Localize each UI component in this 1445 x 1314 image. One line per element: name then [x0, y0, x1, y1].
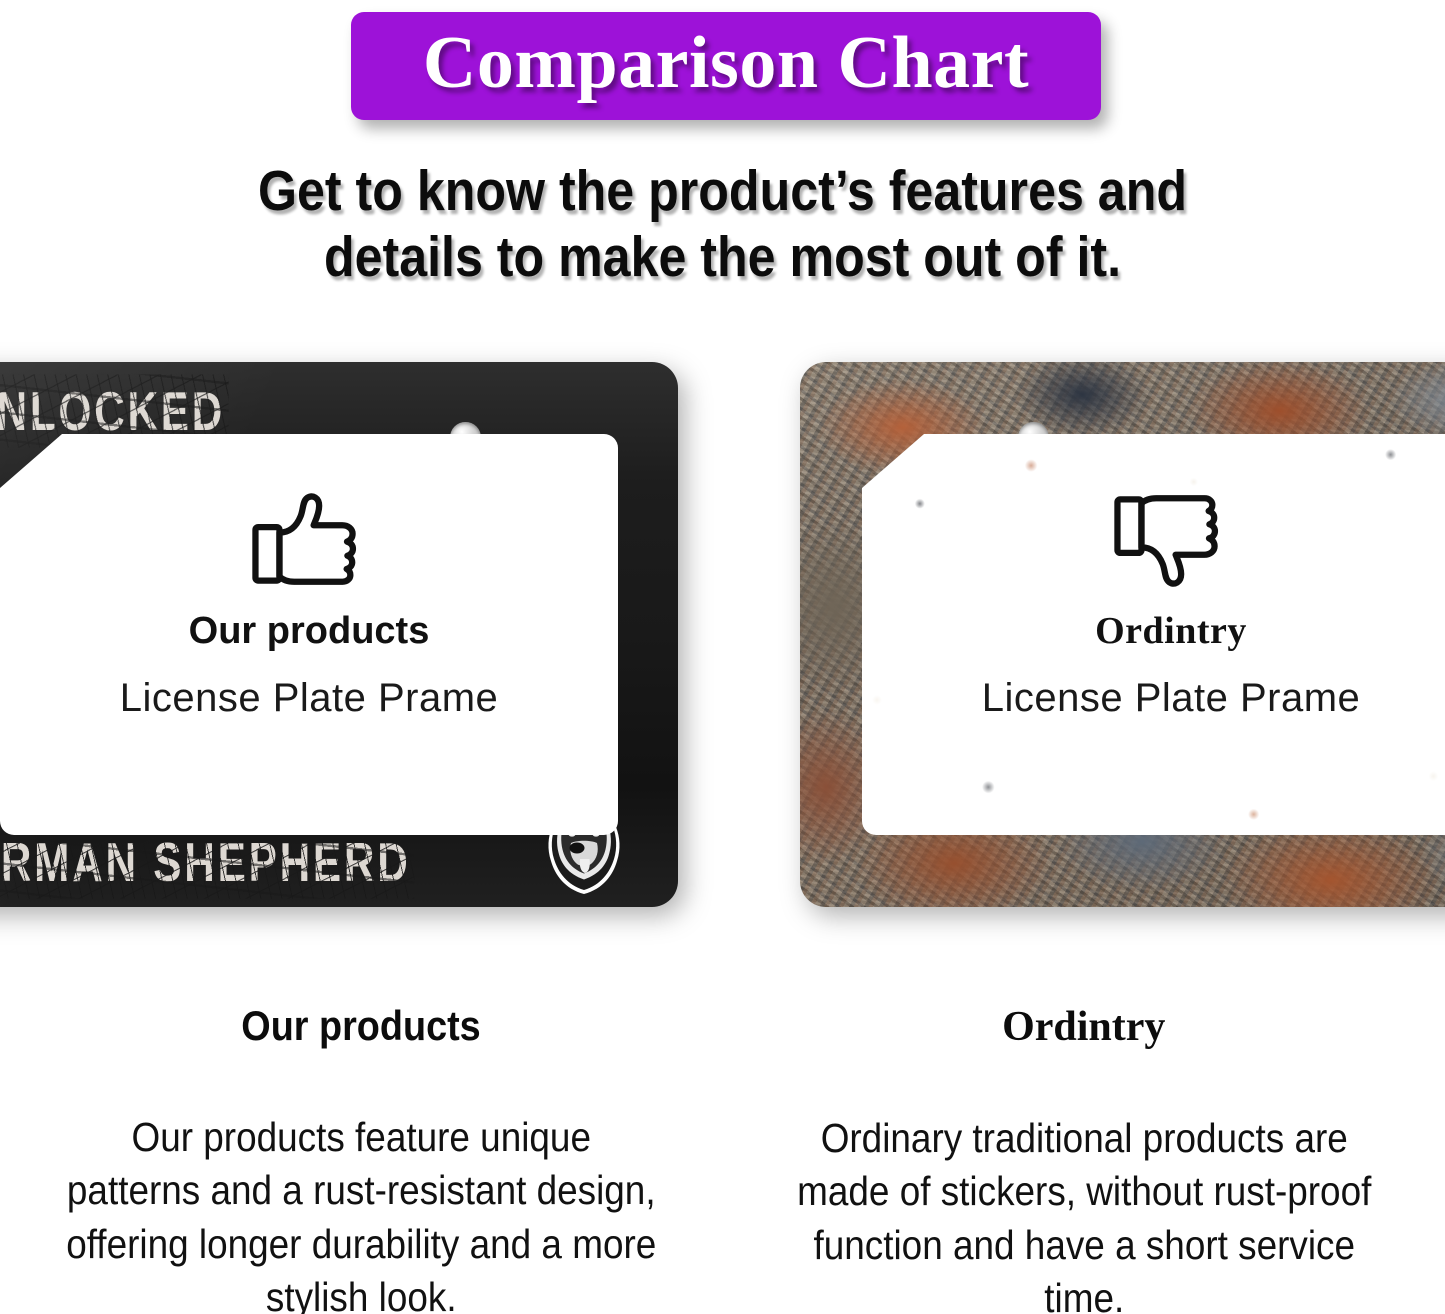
ordinary-product-body-text: Ordinary traditional products are made o…	[786, 1112, 1382, 1314]
ordinary-product-frame-image: Ordintry License Plate Prame	[800, 362, 1445, 907]
our-product-description-column: Our products Our products feature unique…	[0, 985, 723, 1314]
product-comparison-images: AR IS UNLOCKED DER GERMAN SHEPHERD	[0, 348, 1445, 928]
thumbs-down-icon	[1111, 492, 1231, 588]
plate-window-ordinary: Ordintry License Plate Prame	[862, 434, 1445, 835]
page-title: Comparison Chart	[423, 26, 1029, 106]
rusty-license-plate-frame: Ordintry License Plate Prame	[800, 362, 1445, 907]
our-product-body-text: Our products feature unique patterns and…	[63, 1111, 659, 1314]
our-product-heading: Our products	[242, 1005, 481, 1047]
comparison-chart-banner: Comparison Chart	[351, 12, 1101, 120]
ordinary-product-heading: Ordintry	[1002, 1004, 1165, 1050]
black-license-plate-frame: AR IS UNLOCKED DER GERMAN SHEPHERD	[0, 362, 678, 907]
comparison-descriptions: Our products Our products feature unique…	[0, 985, 1445, 1314]
ordinary-product-heading-wrap: Ordintry	[753, 1005, 1416, 1048]
plate-label-ordinary: Ordintry	[1095, 612, 1247, 650]
subtitle-line-1: Get to know the product’s features and	[87, 158, 1359, 224]
thumbs-up-icon	[249, 492, 369, 588]
plate-sub-ordinary: License Plate Prame	[982, 678, 1361, 718]
our-product-frame-image: AR IS UNLOCKED DER GERMAN SHEPHERD	[0, 362, 678, 907]
subtitle-line-2: details to make the most out of it.	[87, 224, 1359, 290]
plate-window-ours: Our products License Plate Prame	[0, 434, 618, 835]
ordinary-product-description-column: Ordintry Ordinary traditional products a…	[723, 985, 1445, 1314]
plate-label-ours: Our products	[189, 612, 430, 650]
frame-bottom-slogan: DER GERMAN SHEPHERD	[0, 830, 610, 894]
frame-top-slogan: AR IS UNLOCKED	[0, 379, 610, 443]
our-product-heading-wrap: Our products	[30, 1005, 693, 1047]
page-subtitle: Get to know the product’s features and d…	[87, 158, 1359, 290]
plate-sub-ours: License Plate Prame	[120, 678, 499, 718]
